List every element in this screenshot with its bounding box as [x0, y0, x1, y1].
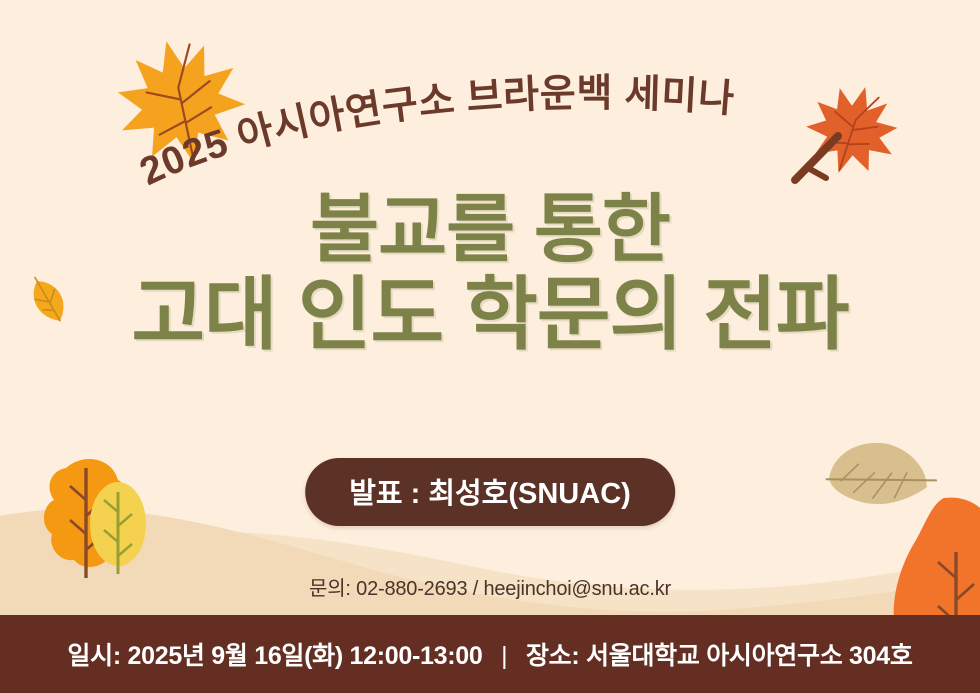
footer-separator: |	[501, 642, 507, 670]
footer-place-value: 서울대학교 아시아연구소 304호	[586, 642, 913, 670]
seminar-poster: 2025 아시아연구소 브라운백 세미나 불교를 통한 고대 인도 학문의 전파…	[0, 0, 980, 693]
maple-leaf-right-shape	[796, 73, 909, 186]
serrated-leaf-right-shape	[823, 427, 942, 525]
footer-bar: 일시: 2025년 9월 16일(화) 12:00-13:00 | 장소: 서울…	[0, 615, 980, 693]
tree-yellow-shape	[90, 482, 146, 574]
arc-headline-svg: 2025 아시아연구소 브라운백 세미나	[0, 66, 980, 186]
contact-info: 문의: 02-880-2693 / heejinchoi@snu.ac.kr	[0, 572, 980, 601]
footer-place-label: 장소:	[526, 642, 579, 670]
footer-details: 일시: 2025년 9월 16일(화) 12:00-13:00 | 장소: 서울…	[67, 636, 912, 672]
arc-headline-text: 2025 아시아연구소 브라운백 세미나	[133, 72, 736, 194]
title-line-2: 고대 인도 학문의 전파	[0, 274, 980, 356]
footer-date-value: 2025년 9월 16일(화) 12:00-13:00	[128, 642, 483, 670]
arc-headline: 2025 아시아연구소 브라운백 세미나	[0, 66, 980, 186]
maple-leaf-left-shape	[106, 28, 255, 177]
poster-title: 불교를 통한 고대 인도 학문의 전파	[0, 191, 980, 355]
footer-date-label: 일시:	[67, 642, 120, 670]
title-line-1: 불교를 통한	[0, 191, 980, 268]
tree-orange-shape	[44, 459, 128, 578]
twig-shape	[795, 136, 838, 180]
speaker-badge: 발표 : 최성호(SNUAC)	[305, 458, 675, 526]
